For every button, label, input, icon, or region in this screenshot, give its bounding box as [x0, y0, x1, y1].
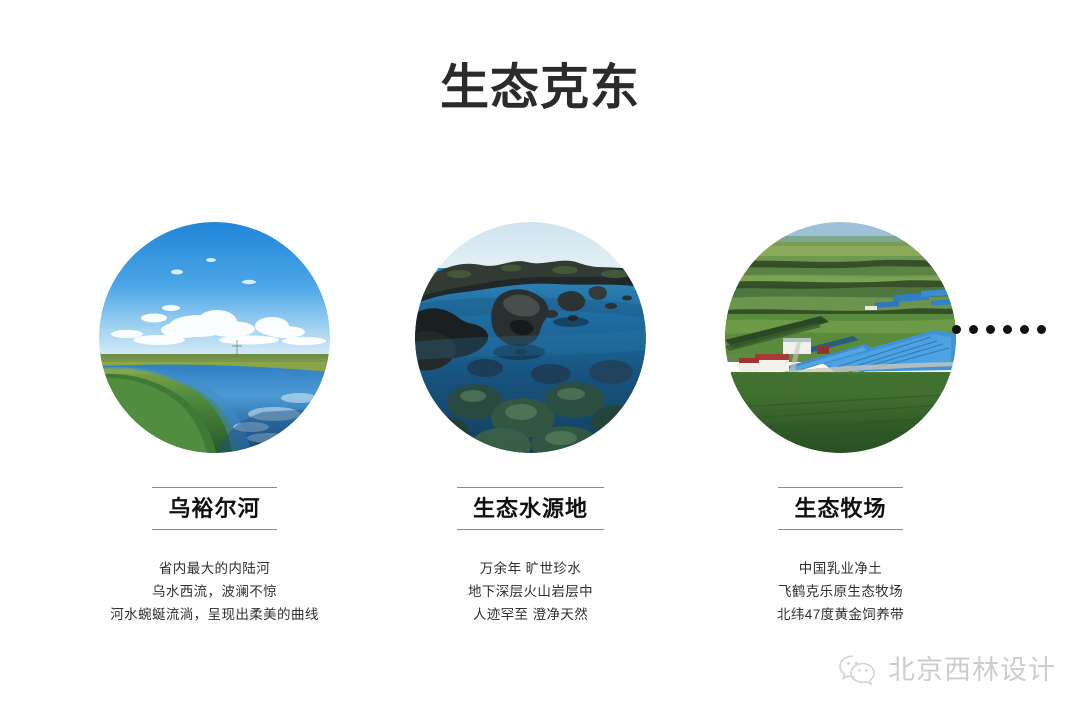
- card-description-line: 乌水西流，波澜不惊: [110, 580, 319, 603]
- wechat-icon: [836, 652, 878, 688]
- card-heading-1: 乌裕尔河: [152, 487, 276, 530]
- card-description-3: 中国乳业净土 飞鹤克乐原生态牧场 北纬47度黄金饲养带: [777, 557, 904, 626]
- more-items-ellipsis: [952, 325, 1046, 334]
- photo-wuyuer-river: [99, 222, 330, 453]
- brand-name: 北京西林设计: [888, 657, 1056, 684]
- ellipsis-dot: [1003, 325, 1012, 334]
- ellipsis-dot: [1020, 325, 1029, 334]
- ellipsis-dot: [969, 325, 978, 334]
- card-heading-2: 生态水源地: [457, 487, 604, 530]
- feature-column-3: 生态牧场 中国乳业净土 飞鹤克乐原生态牧场 北纬47度黄金饲养带: [688, 222, 993, 626]
- card-description-line: 飞鹤克乐原生态牧场: [777, 580, 904, 603]
- feature-columns: 乌裕尔河 省内最大的内陆河 乌水西流，波澜不惊 河水蜿蜒流淌，呈现出柔美的曲线: [0, 222, 1080, 642]
- card-description-line: 北纬47度黄金饲养带: [777, 603, 904, 626]
- feature-column-2: 生态水源地 万余年 旷世珍水 地下深层火山岩层中 人迹罕至 澄净天然: [378, 222, 683, 626]
- card-description-1: 省内最大的内陆河 乌水西流，波澜不惊 河水蜿蜒流淌，呈现出柔美的曲线: [110, 557, 319, 626]
- ellipsis-dot: [986, 325, 995, 334]
- card-description-line: 万余年 旷世珍水: [468, 557, 593, 580]
- card-description-2: 万余年 旷世珍水 地下深层火山岩层中 人迹罕至 澄净天然: [468, 557, 593, 626]
- card-heading-3: 生态牧场: [778, 487, 902, 530]
- card-description-line: 河水蜿蜒流淌，呈现出柔美的曲线: [110, 603, 319, 626]
- card-description-line: 省内最大的内陆河: [110, 557, 319, 580]
- page-title: 生态克东: [0, 62, 1080, 116]
- feature-column-1: 乌裕尔河 省内最大的内陆河 乌水西流，波澜不惊 河水蜿蜒流淌，呈现出柔美的曲线: [62, 222, 367, 626]
- card-description-line: 中国乳业净土: [777, 557, 904, 580]
- footer-brand: 北京西林设计: [836, 652, 1056, 688]
- photo-eco-pasture: [725, 222, 956, 453]
- ellipsis-dot: [1037, 325, 1046, 334]
- card-description-line: 地下深层火山岩层中: [468, 580, 593, 603]
- photo-volcanic-spring: [415, 222, 646, 453]
- card-description-line: 人迹罕至 澄净天然: [468, 603, 593, 626]
- ellipsis-dot: [952, 325, 961, 334]
